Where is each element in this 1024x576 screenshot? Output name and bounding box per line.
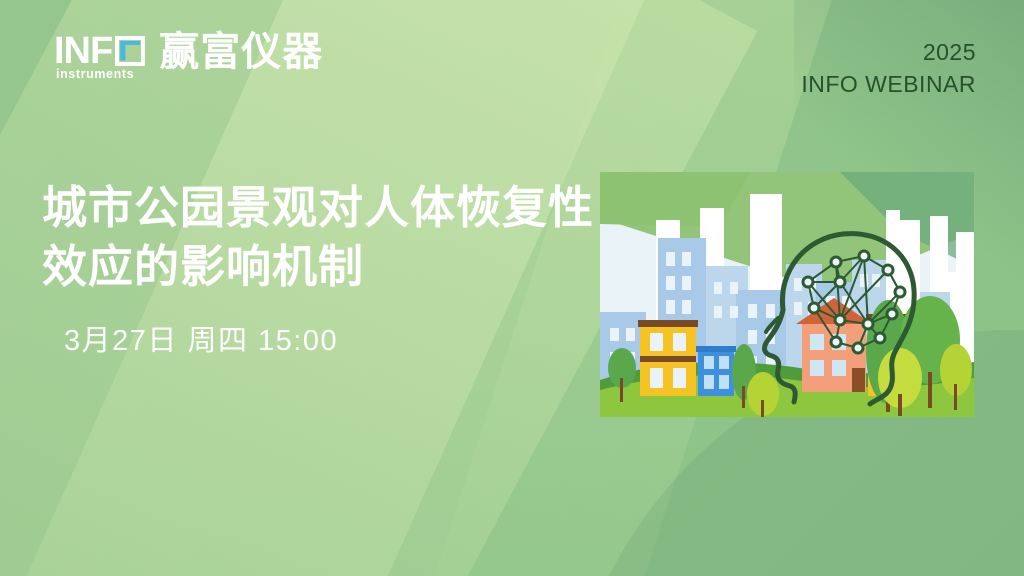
webinar-year: 2025 (801, 38, 976, 68)
house-blue-roof (696, 346, 736, 352)
city-brain-illustration (600, 172, 974, 417)
square-o-mark-icon (115, 36, 145, 66)
page-title: 城市公园景观对人体恢复性 效应的影响机制 (42, 178, 602, 297)
webinar-meta: 2025 INFO WEBINAR (801, 38, 976, 100)
brand-logo-latin-group: INF instruments (54, 32, 145, 70)
house-yellow-left-roof (638, 320, 698, 327)
headline-block: 城市公园景观对人体恢复性 效应的影响机制 3月27日 周四 15:00 (42, 178, 602, 359)
city-brain-illustration-svg (600, 172, 974, 417)
house-yellow-left-band (640, 356, 696, 362)
brand-logo-tagline: instruments (56, 68, 134, 81)
webinar-poster: INF instruments 赢富仪器 2025 INFO WEBINAR 城… (0, 0, 1024, 576)
brand-logo[interactable]: INF instruments 赢富仪器 (54, 30, 323, 70)
brand-logo-inf-text: INF (54, 32, 112, 70)
brand-logo-inf-row: INF (54, 32, 145, 70)
webinar-label: INFO WEBINAR (801, 70, 976, 100)
webinar-datetime: 3月27日 周四 15:00 (64, 317, 602, 359)
house-orange-door (852, 368, 865, 392)
brand-logo-chinese: 赢富仪器 (159, 32, 323, 72)
